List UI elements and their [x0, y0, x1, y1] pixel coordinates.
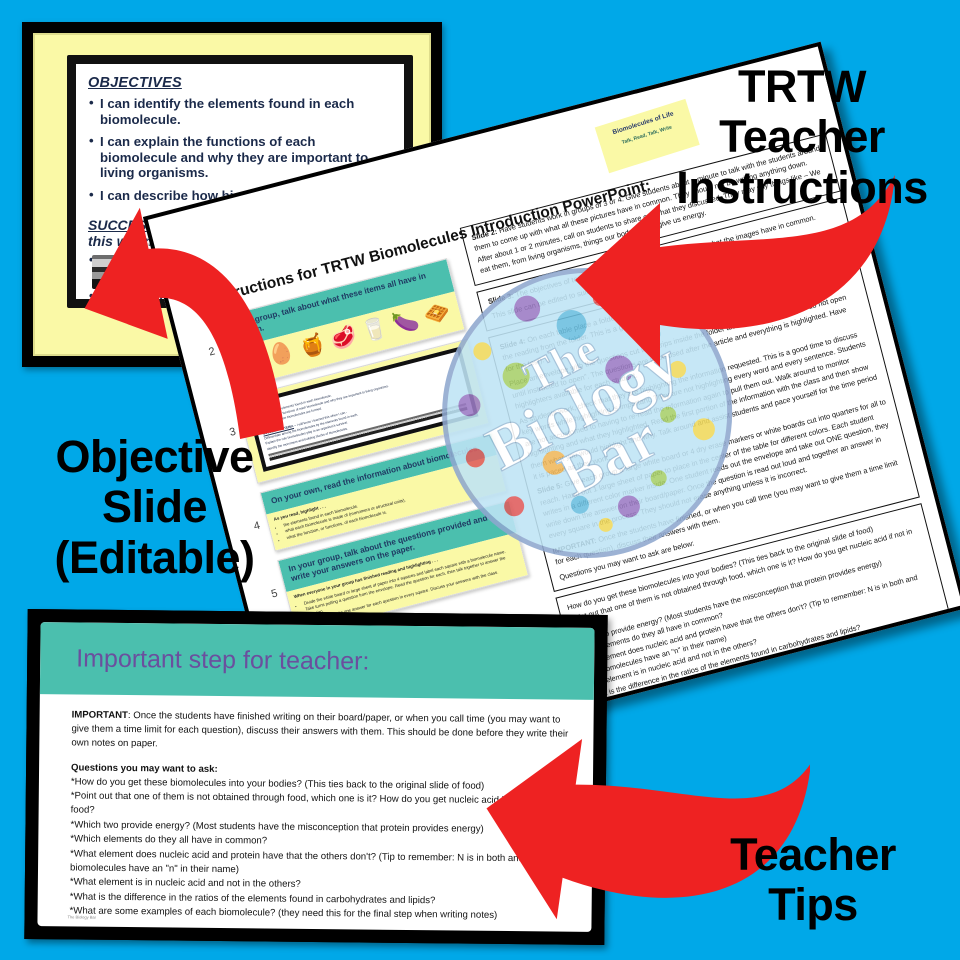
caption-line: Teacher: [652, 112, 952, 162]
arrow-to-objective-slide: [55, 165, 365, 465]
caption-line: Slide: [22, 482, 287, 532]
caption-line: Objective: [22, 432, 287, 482]
poster-canvas: OBJECTIVES I can identify the elements f…: [0, 0, 960, 960]
caption-objective-slide: Objective Slide (Editable): [22, 432, 287, 583]
caption-line: TRTW: [652, 62, 952, 112]
food-icon-eggplant: 🍆: [390, 308, 421, 335]
objectives-heading: OBJECTIVES: [88, 75, 394, 91]
objective-bullet: I can identify the elements found in eac…: [100, 96, 394, 127]
tips-slide-credit: The Biology Bar: [67, 914, 96, 919]
caption-line: (Editable): [22, 533, 287, 583]
tips-header-title: Important step for teacher:: [76, 644, 369, 676]
important-label: IMPORTANT: [72, 709, 128, 721]
caption-teacher-tips: Teacher Tips: [698, 830, 928, 931]
caption-line: Teacher: [698, 830, 928, 880]
tips-slide-header: Important step for teacher:: [40, 622, 595, 700]
caption-line: Tips: [698, 880, 928, 930]
caption-trtw-teacher-instructions: TRTW Teacher Instructions: [652, 62, 952, 213]
page-number: 1: [933, 624, 938, 631]
food-icon-waffle: 🧇: [422, 300, 453, 327]
caption-line: Instructions: [652, 163, 952, 213]
